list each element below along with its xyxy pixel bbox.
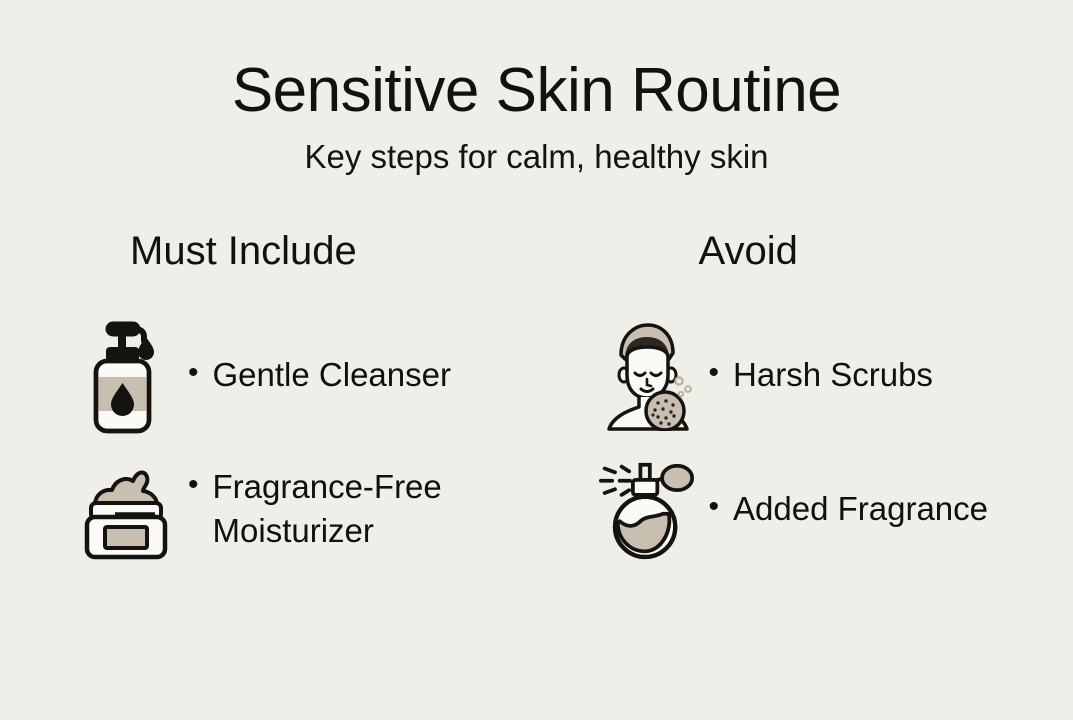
perfume-bottle-icon [599,454,695,564]
column-heading-must-include: Must Include [78,231,537,271]
bullet-icon: • [709,487,720,527]
poster-header: Sensitive Skin Routine Key steps for cal… [0,0,1073,175]
list-item-text: • Fragrance-Free Moisturizer [174,465,537,553]
list-item-label: Gentle Cleanser [213,353,451,397]
bullet-icon: • [709,353,720,393]
page-subtitle: Key steps for calm, healthy skin [0,139,1073,175]
columns-container: Must Include [0,231,1073,583]
face-scrub-icon [599,319,695,431]
column-must-include: Must Include [0,231,537,583]
list-item: • Harsh Scrubs [599,315,1073,435]
list-item: • Added Fragrance [599,449,1073,569]
column-heading-avoid: Avoid [599,231,1073,271]
list-item: • Gentle Cleanser [78,315,537,435]
pump-bottle-icon [78,315,174,435]
list-item-text: • Harsh Scrubs [695,353,933,397]
column-avoid: Avoid [537,231,1073,583]
list-item-text: • Gentle Cleanser [174,353,451,397]
bullet-icon: • [188,465,199,505]
list-item-label: Fragrance-Free Moisturizer [213,465,537,553]
list-item-text: • Added Fragrance [695,487,989,531]
list-item-label: Added Fragrance [733,487,988,531]
bullet-icon: • [188,353,199,393]
cream-jar-icon [78,457,174,561]
infographic-poster: Sensitive Skin Routine Key steps for cal… [0,0,1073,720]
list-item-label: Harsh Scrubs [733,353,933,397]
list-item: • Fragrance-Free Moisturizer [78,449,537,569]
page-title: Sensitive Skin Routine [0,58,1073,125]
